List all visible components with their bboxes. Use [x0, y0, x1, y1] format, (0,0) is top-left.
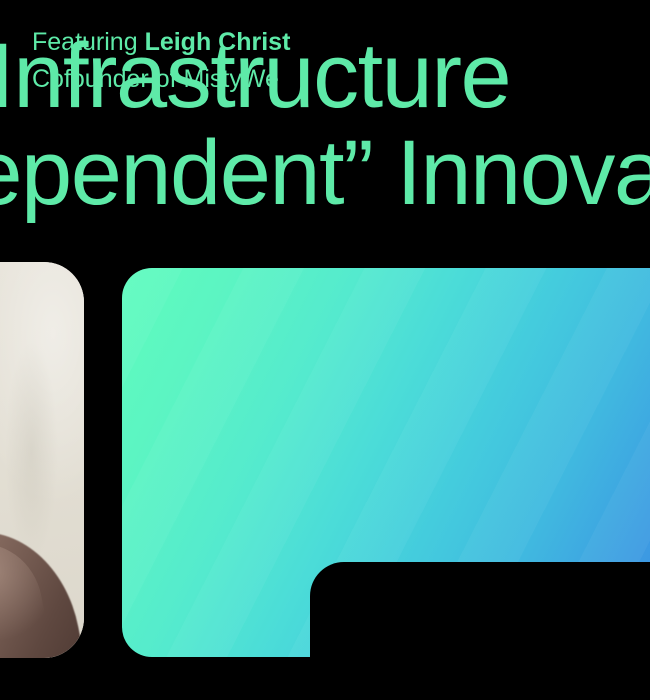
caption-featuring-prefix: Featuring: [32, 28, 145, 56]
promo-slide: “Infrastructure Independent” Innovation …: [0, 0, 650, 700]
caption-featuring-line: Featuring Leigh Christ: [32, 24, 632, 61]
speaker-photo-panel: [0, 262, 84, 658]
caption-role-line: Cofounder of MistyWe: [32, 61, 632, 98]
caption-text: Featuring Leigh Christ Cofounder of Mist…: [32, 24, 632, 98]
caption-speaker-name: Leigh Christ: [145, 28, 291, 56]
photo-wall-shading: [5, 341, 58, 563]
caption-panel: [310, 562, 650, 700]
page-title-line-2: Independent” Innovation: [0, 125, 650, 222]
